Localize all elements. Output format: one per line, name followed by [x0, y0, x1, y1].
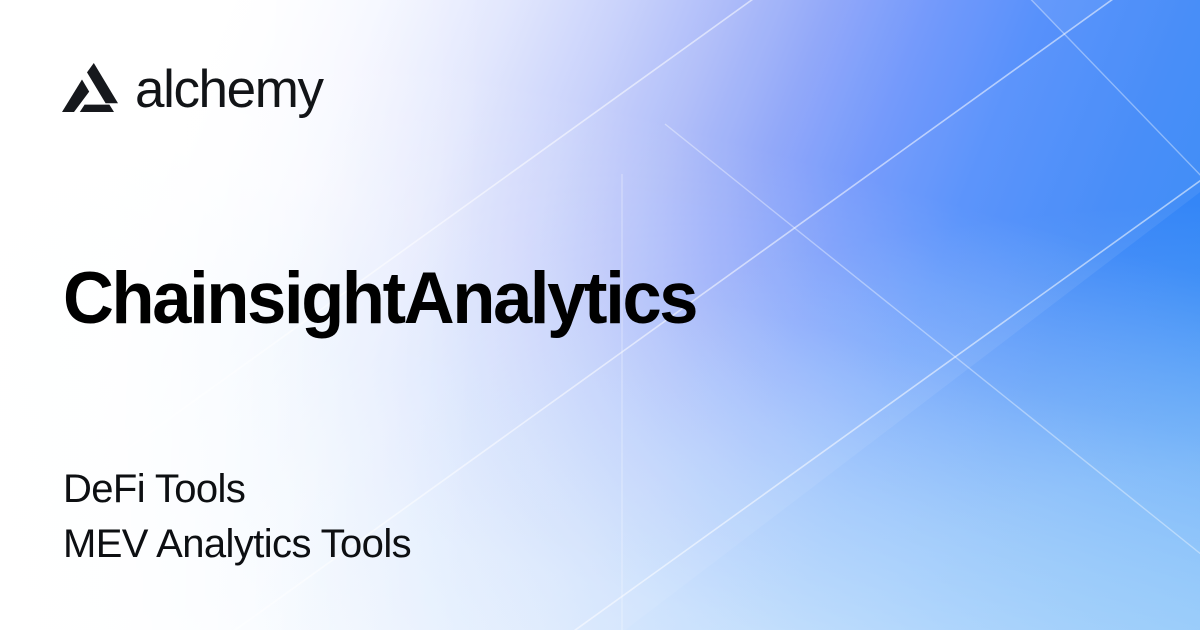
alchemy-wordmark: alchemy: [135, 63, 323, 116]
tagline-item: MEV Analytics Tools: [63, 517, 411, 572]
brand-lockup[interactable]: alchemy: [62, 62, 323, 115]
alchemy-triangle-logo-icon: [62, 63, 118, 115]
tagline-list: DeFi Tools MEV Analytics Tools: [63, 462, 411, 572]
card-content: alchemy ChainsightAnalytics DeFi Tools M…: [0, 0, 1200, 630]
page-title: ChainsightAnalytics: [63, 262, 696, 336]
og-card: alchemy ChainsightAnalytics DeFi Tools M…: [0, 0, 1200, 630]
tagline-item: DeFi Tools: [63, 462, 411, 517]
